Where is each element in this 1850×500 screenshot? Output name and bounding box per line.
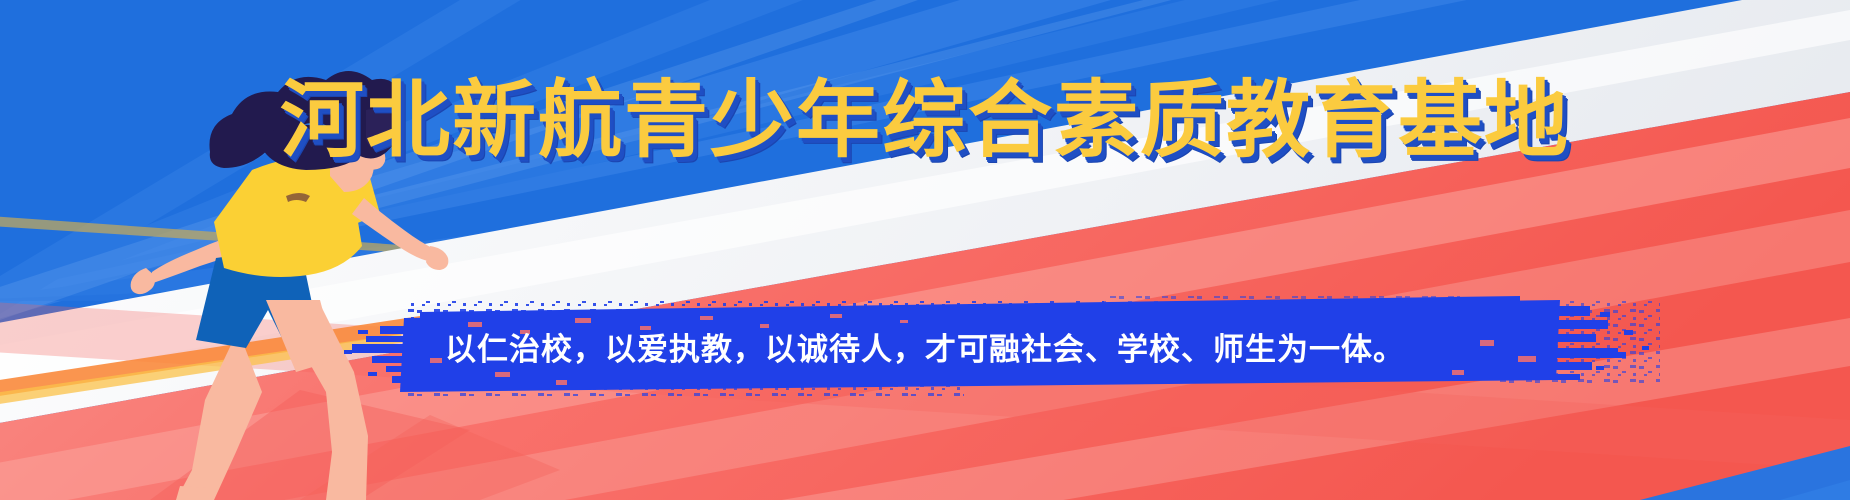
brush-left-tail [344, 326, 410, 383]
brush-stroke-svg [0, 0, 1850, 500]
brush-speckle-top-right [1100, 296, 1460, 310]
brush-speckle-top-left [404, 300, 1104, 322]
brush-speckle-bottom [404, 378, 964, 396]
brush-stroke-layer [0, 0, 1850, 500]
banner-root: 河北新航青少年综合素质教育基地 以仁治校，以爱执教，以诚待人，才可融社会、学校、… [0, 0, 1850, 500]
brush-speckle-right [1500, 300, 1660, 384]
